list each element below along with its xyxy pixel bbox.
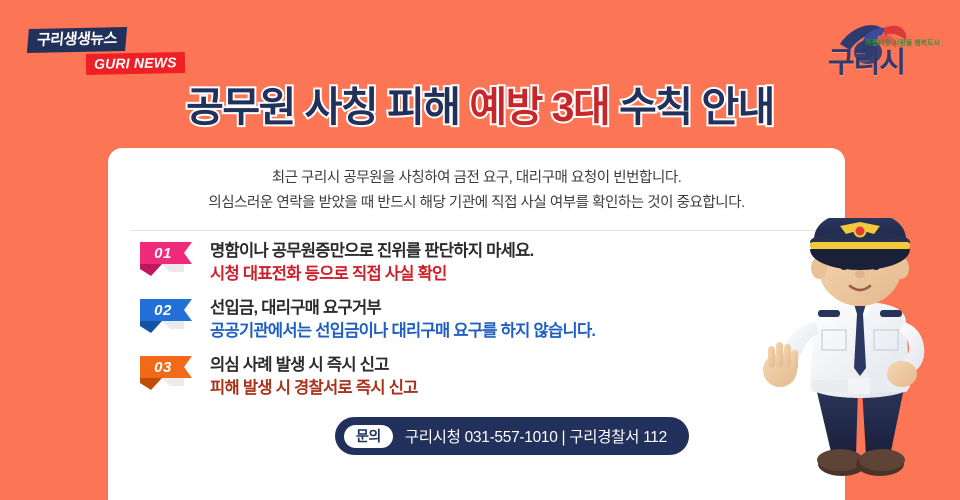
- title-highlight: 예방 3대: [469, 84, 609, 130]
- title-part-1: 공무원 사칭 피해: [186, 84, 469, 130]
- poster-canvas: 구리생생뉴스 GURI NEWS 아름다운 사람들 행복도시 구리시 공무원 사…: [0, 0, 960, 500]
- intro-line-2: 의심스러운 연락을 받았을 때 반드시 해당 기관에 직접 사실 여부를 확인하…: [130, 191, 823, 216]
- rule-main-text: 선입금, 대리구매 요구거부: [210, 297, 825, 319]
- contact-phone-numbers: 구리시청 031-557-1010 | 구리경찰서 112: [405, 425, 667, 447]
- rule-main-text: 의심 사례 발생 시 즉시 신고: [210, 354, 825, 376]
- rule-sub-text: 시청 대표전화 등으로 직접 사실 확인: [210, 263, 825, 285]
- rule-number-badge: 01: [140, 242, 200, 276]
- contact-bar: 문의 구리시청 031-557-1010 | 구리경찰서 112: [335, 417, 689, 455]
- rule-main-text: 명함이나 공무원증만으로 진위를 판단하지 마세요.: [210, 240, 825, 262]
- news-logo-english-label: GURI NEWS: [86, 52, 185, 75]
- rules-list: 01 명함이나 공무원증만으로 진위를 판단하지 마세요. 시청 대표전화 등으…: [140, 240, 825, 411]
- section-divider: [130, 230, 823, 231]
- contact-label-pill: 문의: [344, 425, 393, 448]
- city-logo-wordmark: 구리시: [828, 49, 905, 78]
- rule-number-badge: 03: [140, 356, 200, 390]
- police-officer-figure-icon: [762, 218, 960, 500]
- rule-number: 02: [140, 299, 186, 322]
- rule-item: 03 의심 사례 발생 시 즉시 신고 피해 발생 시 경찰서로 즉시 신고: [140, 354, 825, 411]
- intro-line-1: 최근 구리시 공무원을 사칭하여 금전 요구, 대리구매 요청이 빈번합니다.: [130, 166, 823, 191]
- rule-number-badge: 02: [140, 299, 200, 333]
- police-officer-illustration: [762, 218, 960, 500]
- rule-sub-text: 피해 발생 시 경찰서로 즉시 신고: [210, 377, 825, 399]
- rule-item: 01 명함이나 공무원증만으로 진위를 판단하지 마세요. 시청 대표전화 등으…: [140, 240, 825, 297]
- rule-item: 02 선입금, 대리구매 요구거부 공공기관에서는 선입금이나 대리구매 요구를…: [140, 297, 825, 354]
- intro-paragraph: 최근 구리시 공무원을 사칭하여 금전 요구, 대리구매 요청이 빈번합니다. …: [130, 166, 823, 216]
- news-logo-korean-label: 구리생생뉴스: [27, 27, 127, 53]
- news-logo: 구리생생뉴스 GURI NEWS: [28, 28, 198, 80]
- rule-number: 01: [140, 242, 186, 265]
- page-title: 공무원 사칭 피해 예방 3대 수칙 안내: [0, 86, 960, 129]
- guri-city-logo: 아름다운 사람들 행복도시 구리시: [822, 18, 942, 80]
- rule-sub-text: 공공기관에서는 선입금이나 대리구매 요구를 하지 않습니다.: [210, 320, 825, 342]
- title-part-2: 수칙 안내: [609, 84, 774, 130]
- rule-number: 03: [140, 356, 186, 379]
